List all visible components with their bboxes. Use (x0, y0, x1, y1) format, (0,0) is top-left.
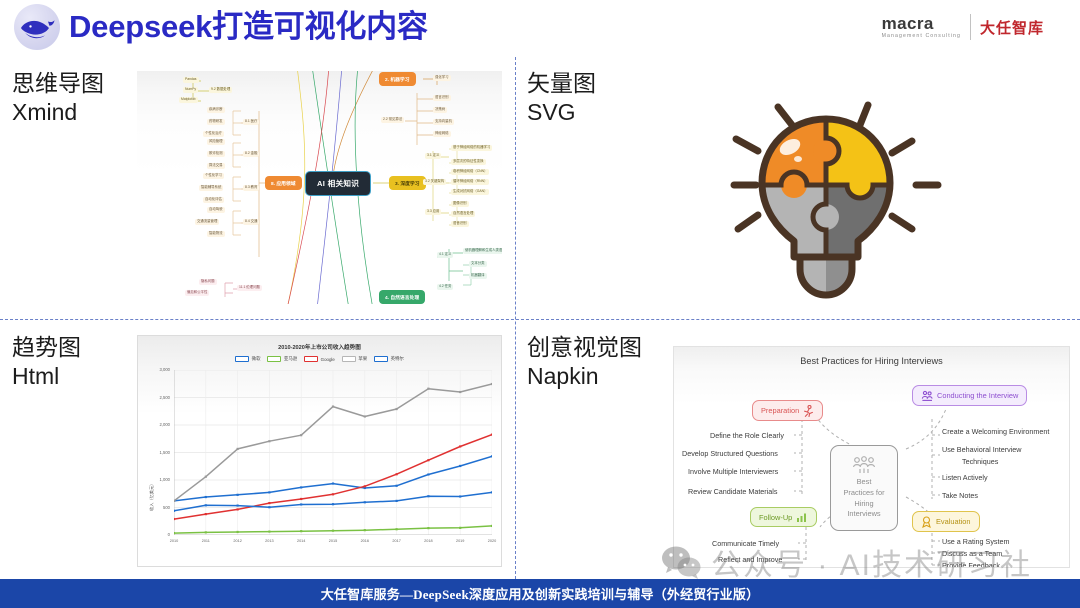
legend-swatch (235, 356, 249, 362)
napkin-item: Discuss as a Team (942, 549, 1002, 558)
legend-swatch (374, 356, 388, 362)
mindmap-node: 偏见和公平性 (185, 290, 209, 296)
napkin-branch-conducting[interactable]: Conducting the Interview (912, 385, 1027, 406)
napkin-branch-preparation[interactable]: Preparation (752, 400, 823, 421)
chart-y-tick: 2,000 (148, 422, 170, 427)
label-chart: 趋势图 Html (12, 333, 81, 392)
label-svg: 矢量图 SVG (527, 69, 596, 128)
napkin-item: Communicate Timely (712, 539, 779, 548)
chart-title: 2010-2020年上市公司收入趋势图 (138, 343, 501, 351)
legend-item[interactable]: 亚马逊 (267, 356, 297, 362)
legend-label: 苹果 (358, 356, 367, 362)
macra-logo: macra Management Consulting 大任智库 (882, 14, 1044, 40)
mindmap-node: 神经网络 (433, 131, 451, 137)
person-running-icon (803, 405, 814, 417)
napkin-center-line: Interviews (847, 509, 880, 520)
label-napkin-en: Napkin (527, 362, 642, 391)
mindmap-node: 图像识别 (451, 201, 469, 207)
chart-x-tick: 2010 (161, 539, 187, 543)
chart-y-tick: 1,000 (148, 477, 170, 482)
chart-x-tick: 2019 (447, 539, 473, 543)
napkin-item: Techniques (962, 457, 998, 466)
chart-x-tick: 2012 (225, 539, 251, 543)
label-napkin-cn: 创意视觉图 (527, 333, 642, 362)
bar-chart-icon (796, 512, 808, 523)
chart-y-tick: 2,500 (148, 395, 170, 400)
label-chart-cn: 趋势图 (12, 333, 81, 362)
napkin-center-line: Practices for (843, 488, 884, 499)
mindmap-node: 强化学习 (433, 75, 451, 81)
mindmap-node: 语言识别 (433, 95, 451, 101)
mindmap-node: 语音识别 (451, 221, 469, 227)
lightbulb-puzzle-icon (700, 73, 1000, 303)
chart-x-tick: 2016 (352, 539, 378, 543)
macra-wordmark: macra (882, 15, 934, 32)
napkin-branch-followup[interactable]: Follow-Up (750, 507, 817, 527)
whale-icon (14, 4, 60, 50)
napkin-item: Use a Rating System (942, 537, 1010, 546)
chart-y-tick: 3,000 (148, 367, 170, 372)
vertical-divider (515, 57, 516, 579)
legend-swatch (342, 356, 356, 362)
legend-label: 微软 (252, 356, 261, 362)
mindmap-node: 卷积神经网络（CNN） (451, 169, 489, 175)
napkin-item: Review Candidate Materials (688, 487, 778, 496)
mindmap-node: 3.1 定义 (425, 153, 441, 159)
logo-divider (970, 14, 971, 40)
label-chart-en: Html (12, 362, 81, 391)
napkin-center-line: Hiring (854, 499, 873, 510)
slide-root: Deepseek打造可视化内容 macra Management Consult… (0, 0, 1080, 608)
napkin-branch-label: Evaluation (936, 517, 971, 526)
chart-legend: 微软 亚马逊 Google 苹果 (138, 356, 501, 362)
mindmap-node: 自然语言处理 (451, 211, 475, 217)
mindmap-node: 文本分类 (469, 261, 487, 267)
chart-canvas (174, 370, 492, 535)
award-icon (921, 516, 932, 528)
mindmap-node: 多层次的特征性变换 (451, 159, 486, 165)
napkin-center-node: Best Practices for Hiring Interviews (830, 445, 898, 531)
label-napkin: 创意视觉图 Napkin (527, 333, 642, 392)
mindmap-node: 4.1 定义 (437, 252, 453, 258)
horizontal-divider (0, 319, 1080, 320)
napkin-item: Involve Multiple Interviewers (688, 467, 778, 476)
chart-x-tick: 2020 (479, 539, 502, 543)
mindmap-node: 循环神经网络（RNN） (451, 179, 489, 185)
chart-x-tick: 2018 (415, 539, 441, 543)
napkin-title: Best Practices for Hiring Interviews (674, 356, 1069, 366)
chart-x-tick: 2013 (256, 539, 282, 543)
mindmap-node: 生成对抗网络（GAN） (451, 189, 489, 195)
napkin-diagram: Best Practices for Hiring Interviews (673, 346, 1070, 568)
mindmap-node: 机器翻译 (469, 273, 487, 279)
macra-chinese-name: 大任智库 (980, 17, 1044, 38)
napkin-item: Create a Welcoming Environment (942, 427, 1049, 436)
mindmap-node: 3.3 应用 (425, 209, 441, 215)
napkin-branch-label: Preparation (761, 406, 799, 415)
legend-swatch (304, 356, 318, 362)
napkin-branch-label: Conducting the Interview (937, 391, 1018, 400)
chart-x-tick: 2017 (384, 539, 410, 543)
quadrant-grid: 思维导图 Xmind (0, 57, 1080, 579)
mindmap-node: 决策树 (433, 107, 447, 113)
legend-item[interactable]: 英特尔 (374, 356, 404, 362)
mindmap-node: 使机器理解和生成人类语言 (463, 248, 502, 254)
chart-x-tick: 2011 (193, 539, 219, 543)
napkin-item: Define the Role Clearly (710, 431, 784, 440)
legend-label: 英特尔 (391, 356, 404, 362)
slide-header: Deepseek打造可视化内容 macra Management Consult… (0, 0, 1080, 57)
napkin-item: Use Behavioral Interview (942, 445, 1022, 454)
napkin-item: Listen Actively (942, 473, 988, 482)
two-people-icon (921, 390, 933, 402)
lightbulb-svg (700, 73, 1000, 303)
chart-x-tick: 2014 (288, 539, 314, 543)
napkin-item: Develop Structured Questions (682, 449, 778, 458)
chart-plot-area (174, 370, 492, 535)
napkin-item: Reflect and Improve (718, 555, 782, 564)
chart-x-tick: 2015 (320, 539, 346, 543)
label-svg-en: SVG (527, 98, 596, 127)
legend-item[interactable]: 苹果 (342, 356, 367, 362)
footer-text: 大任智库服务—DeepSeek深度应用及创新实践培训与辅导（外经贸行业版） (321, 584, 760, 603)
legend-label: 亚马逊 (284, 356, 297, 362)
napkin-item: Take Notes (942, 491, 978, 500)
legend-swatch (267, 356, 281, 362)
napkin-branch-label: Follow-Up (759, 513, 792, 522)
chart-y-tick: 500 (148, 505, 170, 510)
mindmap-node: 4.2 任务 (437, 284, 453, 290)
chart-y-tick: 0 (148, 532, 170, 537)
napkin-item: Provide Feedback (942, 561, 1000, 568)
legend-item[interactable]: 微软 (235, 356, 260, 362)
napkin-branch-evaluation[interactable]: Evaluation (912, 511, 980, 532)
slide-footer: 大任智库服务—DeepSeek深度应用及创新实践培训与辅导（外经贸行业版） (0, 579, 1080, 608)
macra-tagline: Management Consulting (882, 34, 961, 39)
label-svg-cn: 矢量图 (527, 69, 596, 98)
napkin-center-line: Best (857, 477, 872, 488)
trend-chart: 2010-2020年上市公司收入趋势图 微软 亚马逊 Google (137, 335, 502, 567)
quadrant-napkin: 创意视觉图 Napkin Best Practices for Hiring I… (0, 57, 397, 279)
legend-item[interactable]: Google (304, 356, 335, 362)
people-group-icon (851, 456, 877, 474)
brand-block: Deepseek打造可视化内容 (14, 4, 428, 50)
page-title: Deepseek打造可视化内容 (69, 4, 428, 50)
legend-label: Google (321, 357, 335, 362)
mindmap-node: 支持向量机 (433, 119, 454, 125)
chart-y-tick: 1,500 (148, 450, 170, 455)
mindmap-node: 3.2 关键架构 (423, 179, 446, 185)
mindmap-node: 基于神经网络的机器学习 (451, 145, 492, 151)
mindmap-branch-nlp: 4. 自然语言处理 (379, 290, 425, 304)
